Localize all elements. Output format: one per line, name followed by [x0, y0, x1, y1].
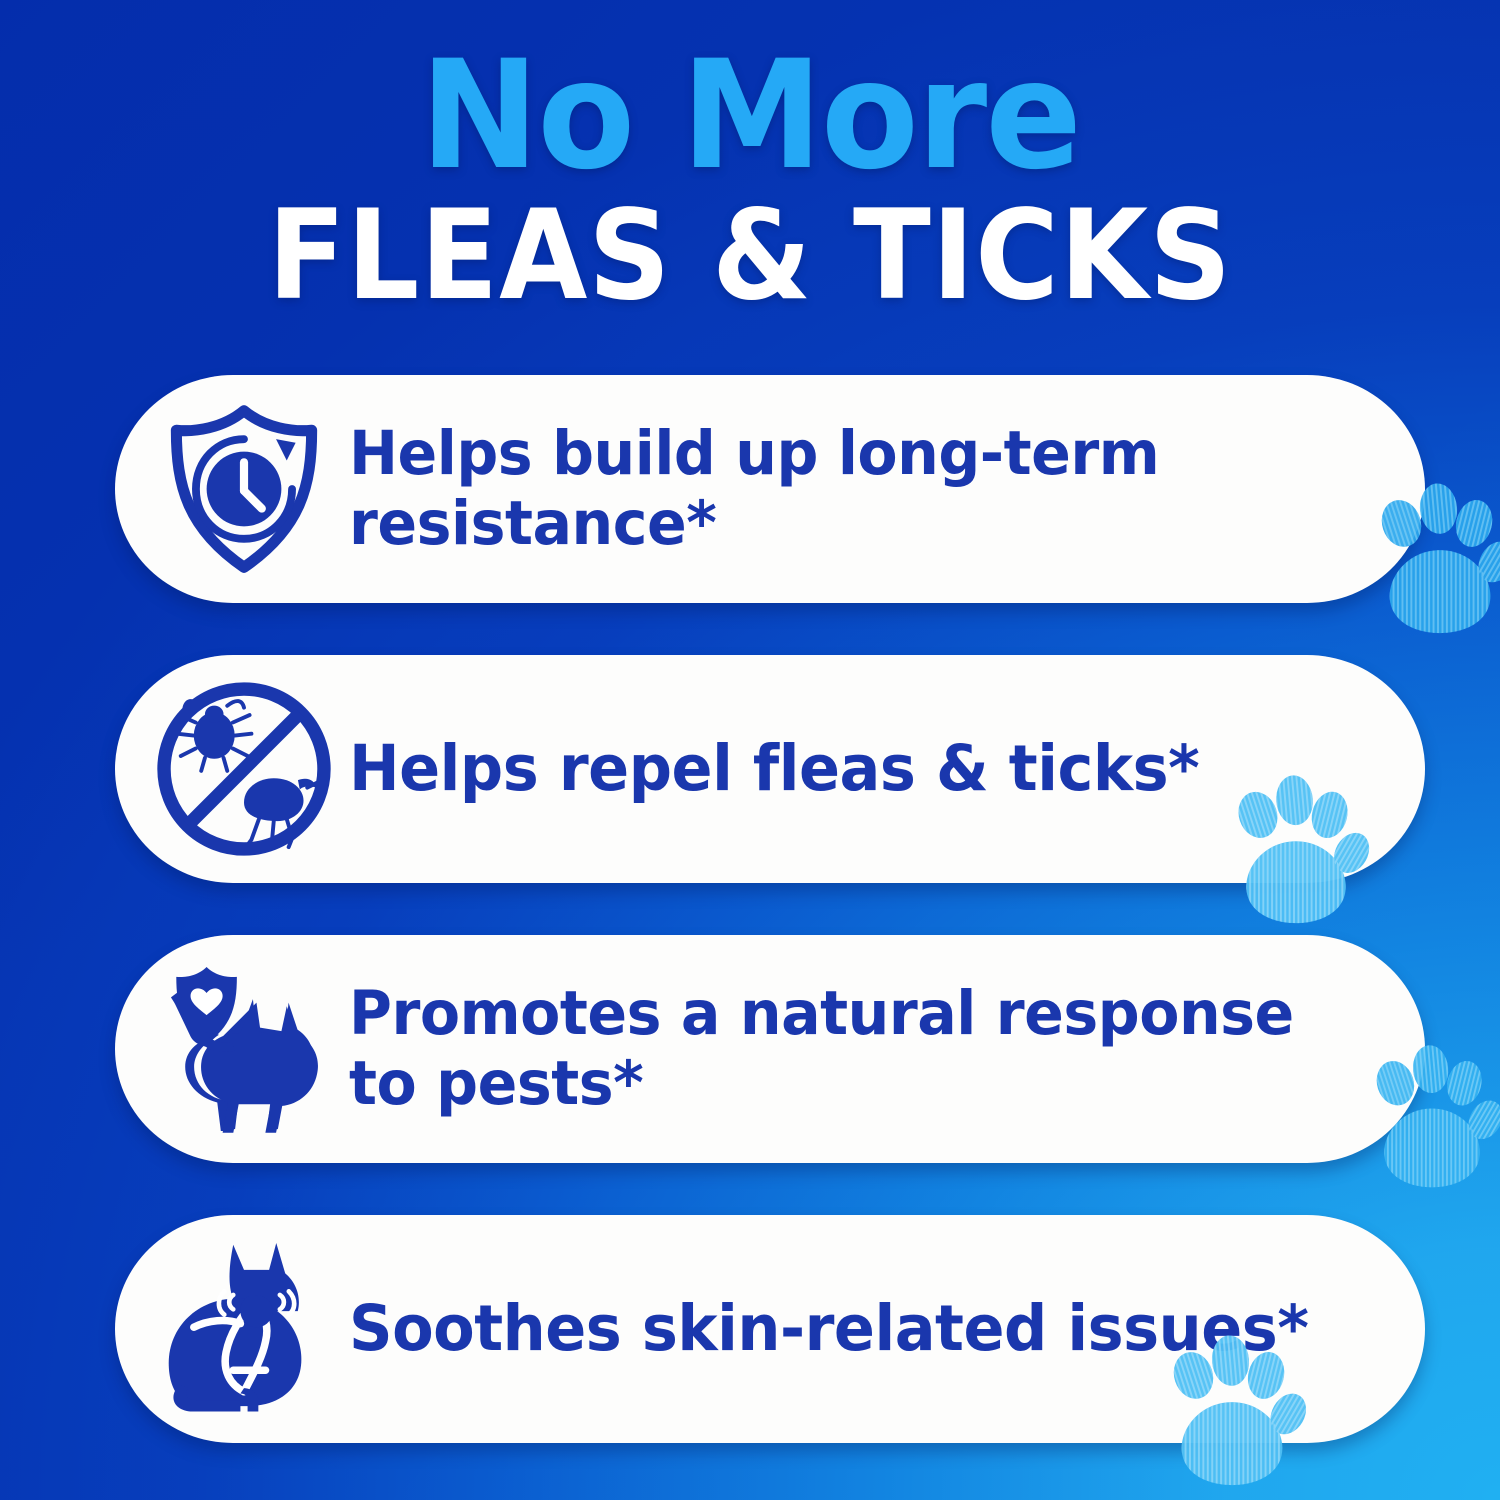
headline: No More FLEAS & TICKS [0, 44, 1500, 318]
benefit-text: Helps build up long-term resistance* [349, 419, 1382, 558]
headline-line-2: FLEAS & TICKS [60, 194, 1440, 318]
benefit-card: Helps repel fleas & ticks* [115, 655, 1425, 883]
no-fleas-ticks-icon [139, 676, 349, 862]
paw-print-icon [1365, 479, 1500, 639]
benefit-text: Helps repel fleas & ticks* [349, 733, 1382, 805]
cat-scratching-icon [139, 1234, 349, 1424]
benefit-text: Soothes skin-related issues* [349, 1293, 1382, 1365]
shield-clock-icon [139, 400, 349, 578]
headline-line-1: No More [38, 44, 1463, 188]
benefit-card: Promotes a natural response to pests* [115, 935, 1425, 1163]
benefit-card: Soothes skin-related issues* [115, 1215, 1425, 1443]
benefit-text: Promotes a natural response to pests* [349, 979, 1382, 1118]
infographic-canvas: No More FLEAS & TICKS [0, 0, 1500, 1500]
benefit-card-list: Helps build up long-term resistance* [115, 375, 1425, 1443]
cat-shield-heart-icon [139, 956, 349, 1142]
benefit-card: Helps build up long-term resistance* [115, 375, 1425, 603]
